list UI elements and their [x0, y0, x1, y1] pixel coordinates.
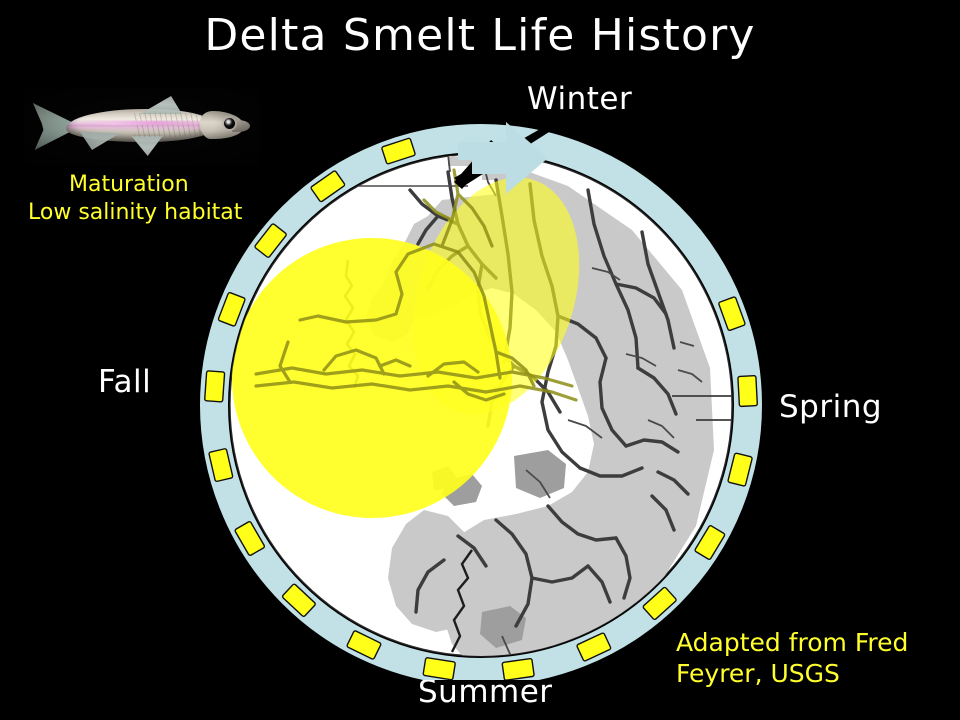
maturation-label: Maturation [69, 171, 189, 199]
slide-canvas: Delta Smelt Life History Maturation Low … [0, 0, 960, 720]
ring-dash [423, 657, 455, 679]
life-cycle-diagram [196, 120, 766, 680]
ring-dash [205, 371, 225, 402]
page-title: Delta Smelt Life History [0, 8, 960, 64]
season-label-winter: Winter [527, 82, 632, 116]
season-label-spring: Spring [779, 390, 882, 424]
season-label-fall: Fall [98, 365, 151, 399]
life-cycle-svg [196, 120, 766, 680]
ring-dash [502, 658, 534, 680]
ring-dash [347, 630, 382, 659]
ring-dash [576, 632, 611, 661]
ring-dash [738, 376, 758, 407]
season-label-summer: Summer [418, 675, 553, 709]
